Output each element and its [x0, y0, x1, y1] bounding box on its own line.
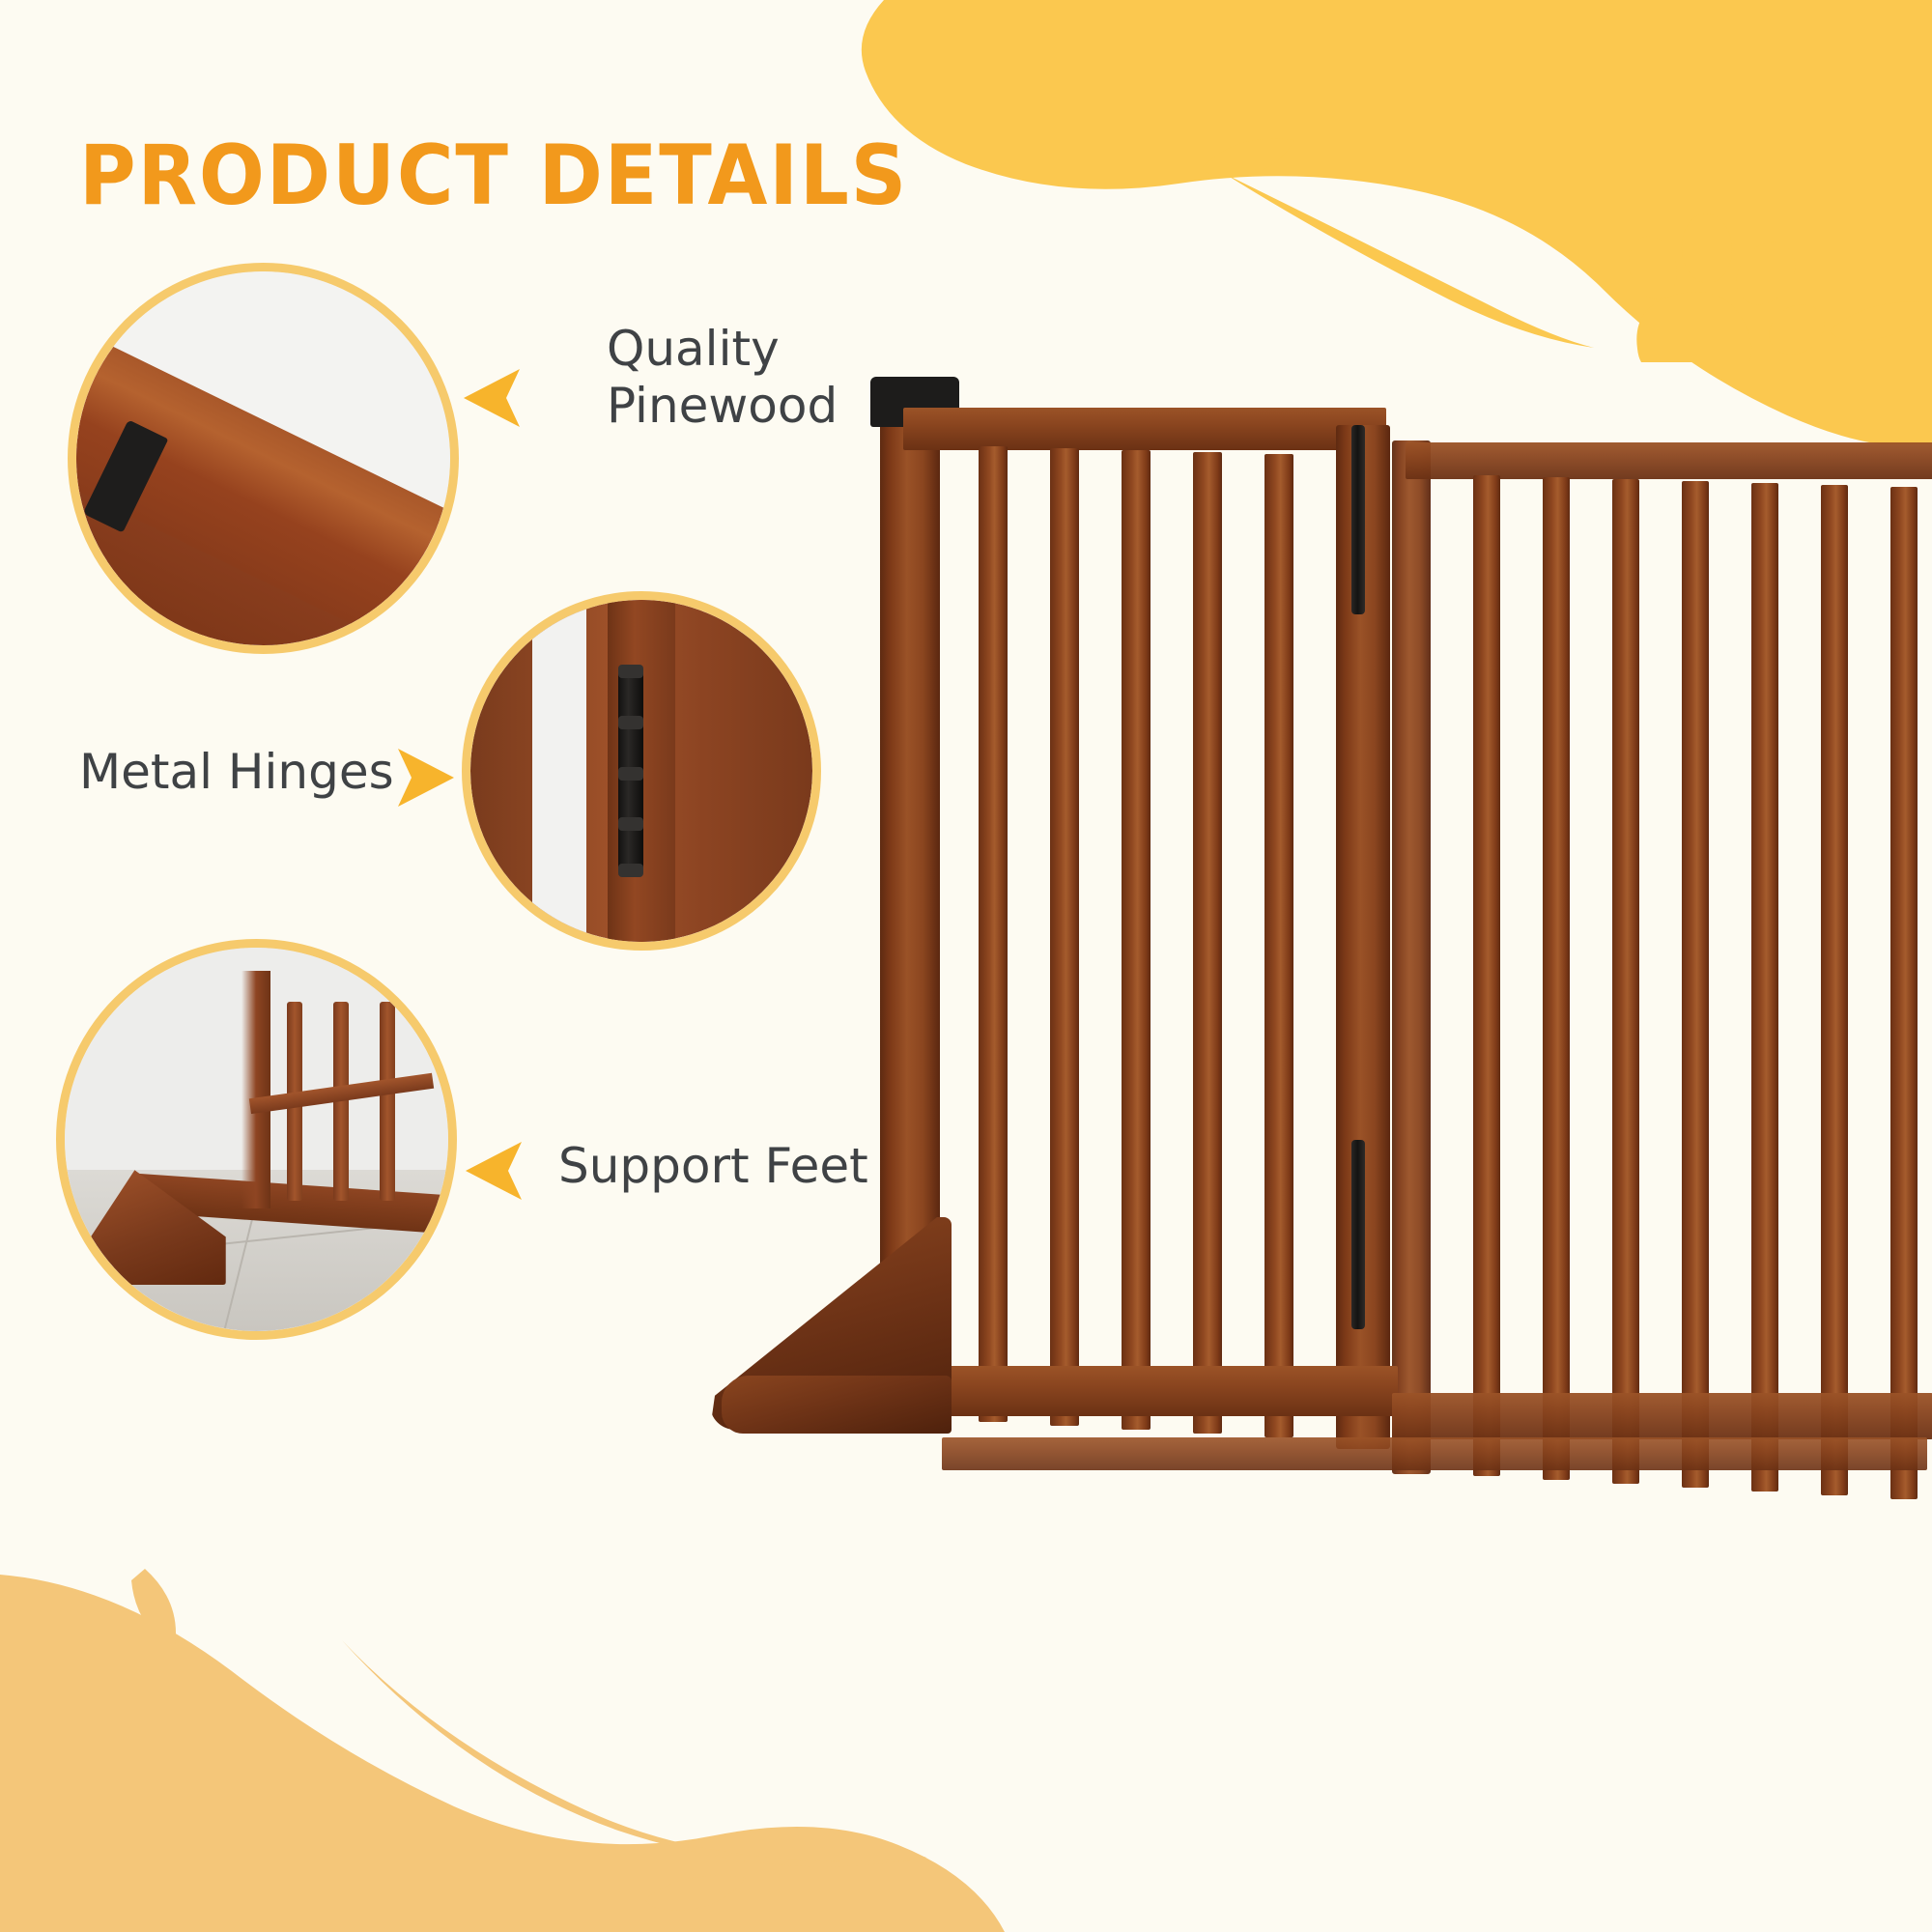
page-title: PRODUCT DETAILS: [79, 128, 908, 224]
top-swoosh-decoration: [1207, 164, 1613, 357]
gate-support-foot-base: [722, 1376, 952, 1434]
gate-second-bottom-rail: [1392, 1393, 1932, 1439]
gate-slat: [1612, 479, 1639, 1484]
metal-hinge-graphic: [618, 665, 643, 876]
gate-lower-trim: [942, 1437, 1927, 1470]
gate-slat: [1264, 454, 1293, 1437]
gate-slat: [1751, 483, 1778, 1492]
gate-metal-hinge: [1351, 425, 1365, 614]
infographic-canvas: PRODUCT DETAILS Quality Pinewood: [0, 0, 1932, 1932]
gate-second-panel-top-rail: [1406, 442, 1932, 479]
gate-slat: [1682, 481, 1709, 1488]
arrow-right-icon-hinges: [394, 749, 454, 807]
gate-metal-hinge-2: [1351, 1140, 1365, 1329]
gate-slat: [1821, 485, 1848, 1495]
gate-slat: [1890, 487, 1918, 1499]
gate-slat: [1543, 477, 1570, 1480]
gate-bottom-rail: [903, 1366, 1398, 1416]
callout-label-hinges: Metal Hinges: [79, 744, 394, 801]
leaf-accent-icon-3: [638, 1864, 753, 1922]
gate-slat: [1193, 452, 1222, 1434]
gate-slat: [1473, 475, 1500, 1476]
product-image-pet-gate: [710, 367, 1932, 1835]
gate-slat: [979, 446, 1008, 1422]
gate-second-panel-post: [1392, 440, 1431, 1474]
callout-photo-pinewood: [68, 263, 459, 654]
callout-photo-feet: [56, 939, 457, 1340]
gate-slat: [1050, 448, 1079, 1426]
gate-top-rail: [903, 408, 1386, 450]
arrow-left-icon-feet: [466, 1142, 526, 1200]
gate-slat: [1122, 450, 1151, 1430]
paw-print-icon: [1599, 198, 1850, 362]
arrow-left-icon-pinewood: [464, 369, 524, 427]
bottom-left-accent: [29, 1565, 241, 1681]
leaf-accent-icon: [1198, 130, 1304, 188]
